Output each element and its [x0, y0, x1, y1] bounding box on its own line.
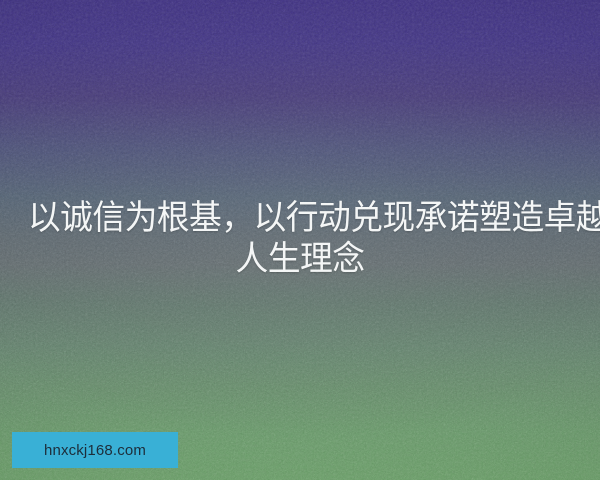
quote-card-image: 以诚信为根基，以行动兑现承诺塑造卓越 人生理念 hnxckj168.com	[0, 0, 600, 480]
watermark-label: hnxckj168.com	[44, 443, 146, 458]
watermark-badge: hnxckj168.com	[12, 432, 178, 468]
quote-line-1: 以诚信为根基，以行动兑现承诺塑造卓越	[28, 198, 572, 239]
quote-line-2: 人生理念	[28, 239, 572, 280]
quote-text-block: 以诚信为根基，以行动兑现承诺塑造卓越 人生理念	[0, 198, 600, 280]
